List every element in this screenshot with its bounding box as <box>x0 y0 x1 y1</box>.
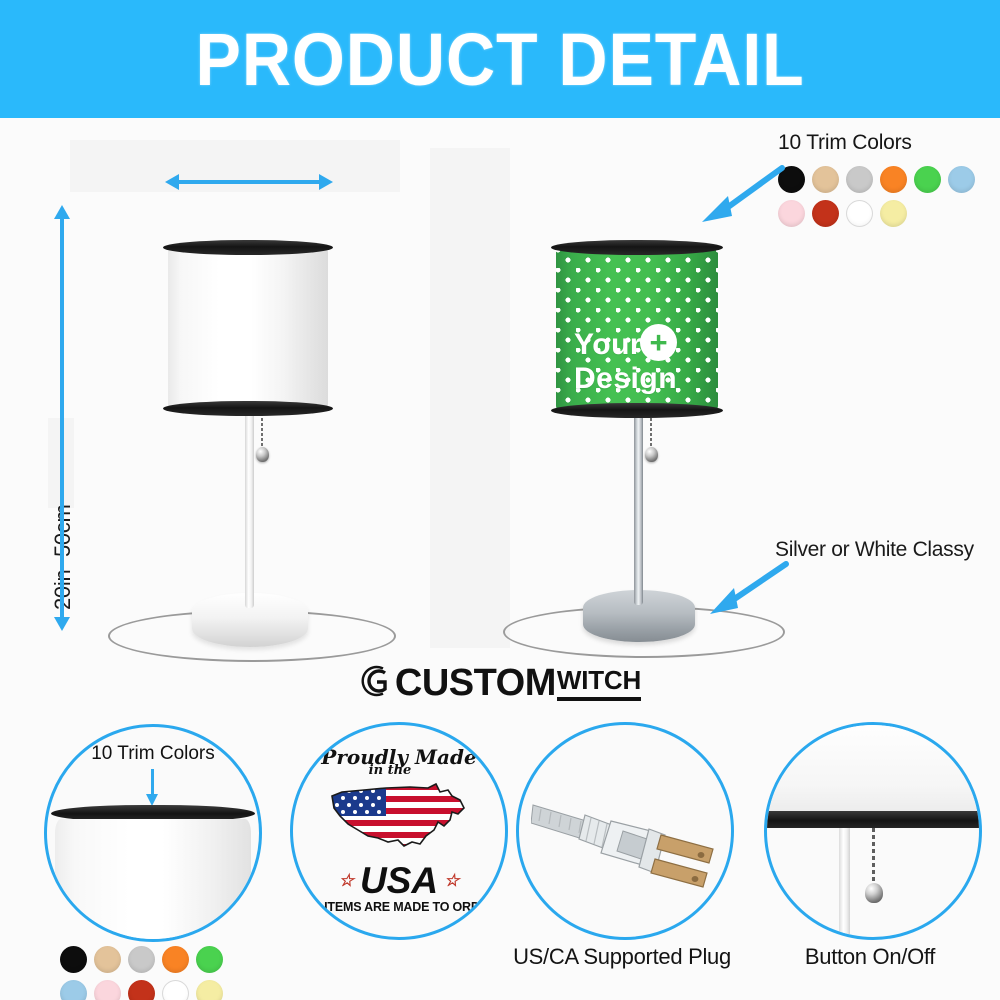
pull-chain-ball <box>865 883 883 903</box>
trim-color-swatch-green[interactable] <box>914 166 941 193</box>
product-detail-infographic: PRODUCT DETAIL 7in~18cm 20in~50cm <box>0 0 1000 1000</box>
lamp-shade <box>168 248 328 408</box>
trim-color-swatch-red[interactable] <box>128 980 155 1000</box>
lamp-pole <box>839 828 850 940</box>
header-banner: PRODUCT DETAIL <box>0 0 1000 118</box>
lamp-shade-trim-icon <box>764 811 982 828</box>
usa-badge: Proudly Made in the <box>293 725 505 937</box>
feature-button-onoff: Button On/Off <box>764 722 992 992</box>
trim-color-swatch-lightblue[interactable] <box>60 980 87 1000</box>
trim-color-swatch-gray[interactable] <box>846 166 873 193</box>
usa-flag-map-icon <box>324 778 474 863</box>
trim-color-swatch-row <box>778 166 1000 227</box>
lamp-shade-surface <box>764 722 982 813</box>
lamp-shade-surface <box>55 819 251 942</box>
shade-trim-bottom <box>163 401 333 416</box>
feature-circle <box>764 722 982 940</box>
shade-surface <box>168 248 328 408</box>
brand-name-primary: CUSTOM <box>395 662 556 705</box>
star-icon: ☆ <box>444 863 459 899</box>
trim-color-swatch-green[interactable] <box>196 946 223 973</box>
feature-caption: US/CA Supported Plug <box>492 944 752 970</box>
main-stage: 7in~18cm 20in~50cm <box>0 118 1000 658</box>
brand-name-secondary: WITCH <box>557 665 641 701</box>
shade-trim-bottom <box>551 403 723 418</box>
trim-color-swatch-yellow[interactable] <box>880 200 907 227</box>
trim-color-swatch-tan[interactable] <box>94 946 121 973</box>
feature-circle: 10 Trim Colors <box>44 724 262 942</box>
design-text-line1: Your <box>574 328 642 362</box>
trim-pointer-arrow <box>151 769 154 795</box>
feature-plug: US/CA Supported Plug <box>516 722 744 992</box>
trim-color-swatch-yellow[interactable] <box>196 980 223 1000</box>
lamp-shade: Your + Design <box>556 248 718 410</box>
star-icon: ☆ <box>339 863 354 899</box>
feature-circle: Proudly Made in the <box>290 722 508 940</box>
feature-made-in-usa: Proudly Made in the <box>290 722 506 938</box>
white-lamp <box>160 198 340 658</box>
shade-trim-top <box>551 240 723 255</box>
trim-callout-arrow <box>694 162 786 224</box>
custom-c-icon <box>359 663 393 704</box>
pull-chain-icon <box>872 828 875 886</box>
plus-icon: + <box>640 324 677 361</box>
trim-color-swatch-white[interactable] <box>162 980 189 1000</box>
usa-badge-subtitle: ALL ITEMS ARE MADE TO ORDER! <box>297 900 500 914</box>
pull-chain-ball <box>256 447 269 462</box>
design-text-line2: Design <box>574 362 677 396</box>
shade-trim-top <box>163 240 333 255</box>
trim-color-swatch-row <box>60 946 256 1000</box>
height-dimension-arrow <box>60 218 64 618</box>
base-callout-arrow <box>704 558 790 616</box>
trim-color-swatch-gray[interactable] <box>128 946 155 973</box>
trim-color-swatch-lightblue[interactable] <box>948 166 975 193</box>
bg-patch <box>430 148 510 648</box>
lamp-pole <box>245 403 254 608</box>
trim-color-swatch-black[interactable] <box>60 946 87 973</box>
trim-colors-title: 10 Trim Colors <box>778 131 1000 155</box>
trim-color-swatch-red[interactable] <box>812 200 839 227</box>
bg-patch <box>70 140 400 192</box>
feature-title: 10 Trim Colors <box>47 743 259 765</box>
trim-color-swatch-orange[interactable] <box>162 946 189 973</box>
pull-chain-ball <box>645 447 658 462</box>
trim-color-swatch-tan[interactable] <box>812 166 839 193</box>
width-dimension-arrow <box>178 180 320 184</box>
brand-logo: CUSTOM WITCH <box>0 662 1000 705</box>
power-plug-icon <box>531 775 727 900</box>
trim-color-swatch-pink[interactable] <box>94 980 121 1000</box>
usa-badge-word-row: ☆ USA ☆ <box>339 863 460 899</box>
trim-color-swatch-orange[interactable] <box>880 166 907 193</box>
trim-color-swatch-white[interactable] <box>846 200 873 227</box>
usa-badge-word: USA <box>360 863 438 899</box>
custom-design-lamp: Your + Design <box>548 198 728 658</box>
feature-trim-colors: 10 Trim Colors <box>44 724 262 994</box>
trim-colors-panel: 10 Trim Colors <box>778 131 1000 227</box>
page-title: PRODUCT DETAIL <box>195 17 804 102</box>
feature-caption: Button On/Off <box>756 944 984 970</box>
feature-circle <box>516 722 734 940</box>
base-finish-label: Silver or White Classy <box>775 538 974 562</box>
lamp-pole <box>634 403 643 605</box>
